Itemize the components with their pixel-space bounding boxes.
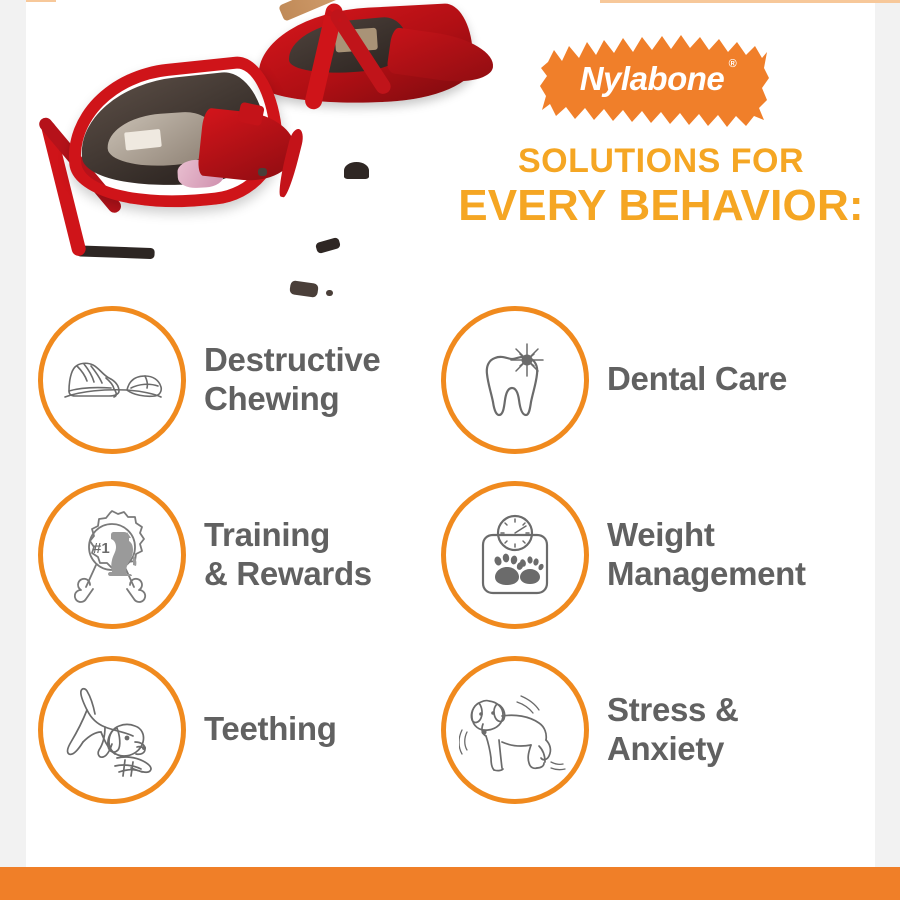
- benefits-row: Destructive Chewing: [26, 292, 875, 467]
- benefits-row: #1 Training & Rewards: [26, 467, 875, 642]
- debris-piece: [344, 162, 369, 179]
- benefit-item-dental-care[interactable]: Dental Care: [441, 292, 875, 467]
- benefit-label-line-1: Teething: [204, 710, 337, 747]
- debris-piece: [338, 18, 342, 22]
- nylabone-logo: Nylabone ®: [538, 28, 770, 136]
- registered-trademark-icon: ®: [729, 58, 737, 70]
- debris-piece: [315, 237, 341, 254]
- benefit-item-stress-anxiety[interactable]: Stress & Anxiety: [441, 642, 875, 817]
- benefit-icon-circle: [441, 656, 589, 804]
- benefit-label-line-1: Stress &: [607, 691, 739, 728]
- footer-orange-band: [0, 867, 900, 900]
- benefit-label-line-1: Weight: [607, 516, 715, 553]
- benefit-label: Dental Care: [607, 360, 787, 398]
- benefit-label: Weight Management: [607, 516, 806, 593]
- debris-piece: [326, 10, 332, 16]
- benefit-icon-circle: [441, 306, 589, 454]
- benefit-label-line-2: Anxiety: [607, 730, 739, 768]
- top-divider-left: [26, 0, 56, 2]
- benefit-label-line-1: Destructive: [204, 341, 380, 378]
- poster-page: Nylabone ® SOLUTIONS FOR EVERY BEHAVIOR:: [0, 0, 900, 900]
- benefit-label: Teething: [204, 710, 337, 748]
- benefit-label-line-1: Training: [204, 516, 330, 553]
- badge-number-text: #1: [93, 540, 110, 557]
- headline-line-2: EVERY BEHAVIOR:: [421, 182, 875, 230]
- benefit-label: Stress & Anxiety: [607, 691, 739, 768]
- trembling-dog-icon: [459, 680, 571, 780]
- benefits-grid: Destructive Chewing: [26, 292, 875, 817]
- benefit-label: Training & Rewards: [204, 516, 372, 593]
- benefit-label: Destructive Chewing: [204, 341, 380, 418]
- headline-line-1: SOLUTIONS FOR: [421, 143, 875, 180]
- top-divider: [600, 0, 900, 3]
- benefits-row: Teething: [26, 642, 875, 817]
- headline: SOLUTIONS FOR EVERY BEHAVIOR:: [421, 143, 875, 229]
- benefit-item-weight-management[interactable]: Weight Management: [441, 467, 875, 642]
- chewed-shoe-icon: [57, 345, 167, 415]
- debris-piece: [258, 168, 267, 176]
- benefit-label-line-1: Dental Care: [607, 360, 787, 397]
- logo-wordmark-container: Nylabone ®: [538, 28, 770, 136]
- puppy-chewing-toy-icon: [57, 680, 167, 780]
- benefit-icon-circle: [441, 481, 589, 629]
- paw-print-icon: [493, 553, 524, 585]
- poster-card: Nylabone ® SOLUTIONS FOR EVERY BEHAVIOR:: [26, 0, 875, 868]
- sitting-dog-icon: [108, 532, 136, 576]
- benefit-icon-circle: [38, 656, 186, 804]
- scale-paws-icon: [465, 505, 565, 605]
- benefit-icon-circle: #1: [38, 481, 186, 629]
- paw-print-icon: [519, 556, 544, 584]
- benefit-item-teething[interactable]: Teething: [26, 642, 441, 817]
- logo-wordmark: Nylabone: [580, 60, 725, 97]
- award-ribbon-dog-icon: #1: [60, 503, 164, 607]
- sparkling-tooth-icon: [465, 330, 565, 430]
- benefit-item-training-rewards[interactable]: #1 Training & Rewards: [26, 467, 441, 642]
- benefit-label-line-2: & Rewards: [204, 555, 372, 593]
- benefit-icon-circle: [38, 306, 186, 454]
- benefit-item-destructive-chewing[interactable]: Destructive Chewing: [26, 292, 441, 467]
- benefit-label-line-2: Management: [607, 555, 806, 593]
- benefit-label-line-2: Chewing: [204, 380, 380, 418]
